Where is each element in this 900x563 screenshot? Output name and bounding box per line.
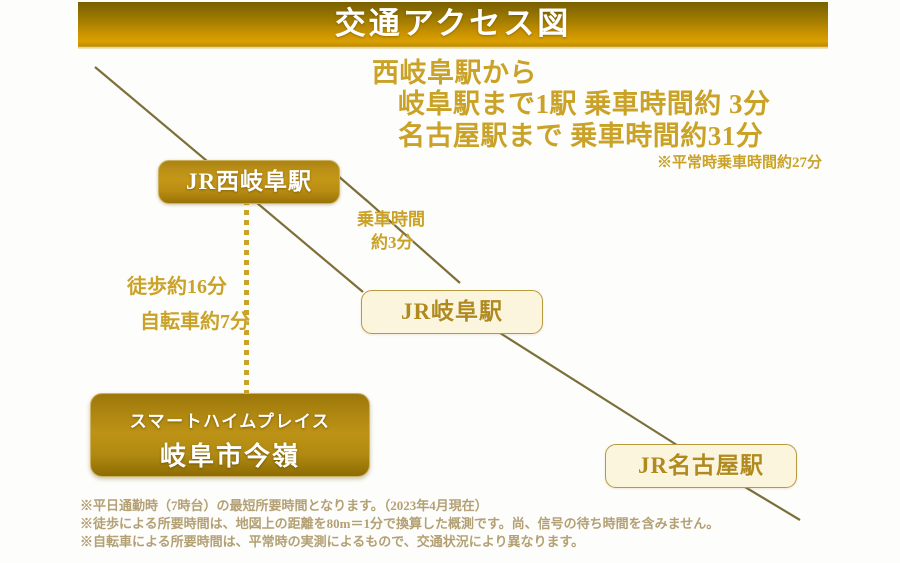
walking-route-dotted-line (244, 200, 249, 400)
title-banner: 交通アクセス図 (78, 2, 828, 49)
headline-line-1: 西岐阜駅から (372, 58, 832, 88)
footnotes-block: ※平日通勤時（7時台）の最短所要時間となります。（2023年4月現在） ※徒歩に… (80, 497, 870, 551)
headline-line-2: 岐阜駅まで1駅 乗車時間約 3分 (372, 88, 832, 120)
headline-block: 西岐阜駅から 岐阜駅まで1駅 乗車時間約 3分 名古屋駅まで 乗車時間約31分 … (372, 58, 832, 174)
footnote-line-3: ※自転車による所要時間は、平常時の実測によるもので、交通状況により異なります。 (80, 533, 870, 551)
walk-time-annotation: 徒歩約16分 (127, 270, 227, 299)
rail-segment-to-nagoya (500, 333, 680, 447)
rail-segment-behind-nishigifu (337, 175, 366, 200)
property-brand-name: スマートハイムプレイス (91, 407, 369, 432)
station-label-nagoya[interactable]: JR名古屋駅 (605, 444, 797, 488)
ride-time-label: 乗車時間 (357, 208, 425, 231)
station-label-gifu[interactable]: JR岐阜駅 (361, 290, 543, 334)
page-title: 交通アクセス図 (78, 2, 828, 46)
footnote-line-1: ※平日通勤時（7時台）の最短所要時間となります。（2023年4月現在） (80, 497, 870, 515)
footnote-line-2: ※徒歩による所要時間は、地図上の距離を80m＝1分で換算した概測です。尚、信号の… (80, 515, 870, 533)
station-label-nishigifu[interactable]: JR西岐阜駅 (158, 160, 340, 204)
access-map-page: 交通アクセス図 西岐阜駅から 岐阜駅まで1駅 乗車時間約 3分 名古屋駅まで 乗… (0, 0, 900, 563)
ride-time-value: 約3分 (357, 231, 425, 254)
headline-line-3: 名古屋駅まで 乗車時間約31分 (372, 120, 832, 152)
bike-time-annotation: 自転車約7分 (140, 305, 250, 334)
ride-time-annotation: 乗車時間 約3分 (357, 208, 425, 254)
property-location-name: 岐阜市今嶺 (91, 436, 369, 473)
property-callout-box[interactable]: スマートハイムプレイス 岐阜市今嶺 (90, 393, 370, 477)
headline-note: ※平常時乗車時間約27分 (372, 152, 832, 174)
